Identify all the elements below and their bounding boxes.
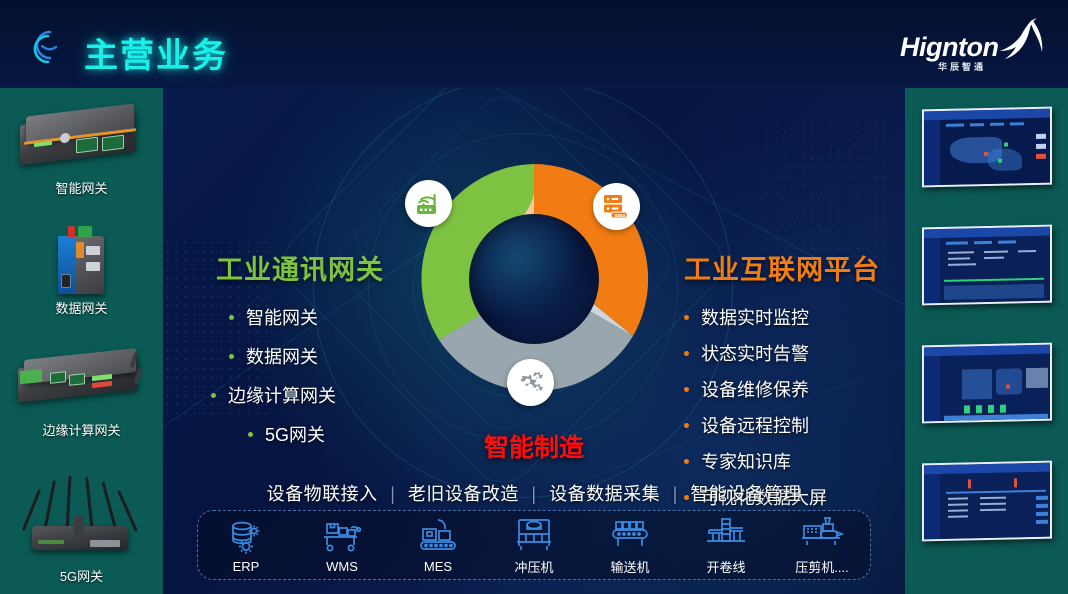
dashboard-map-screenshot — [922, 107, 1052, 188]
business-donut-chart: saas — [411, 156, 657, 402]
right-screenshot-rail — [905, 88, 1068, 594]
rail-item-5g-gateway[interactable]: 5G网关 — [0, 464, 163, 585]
sm-item-1: 老旧设备改造 — [408, 484, 519, 504]
left-bullet-label: 数据网关 — [246, 343, 318, 369]
stamping-press-icon — [491, 514, 577, 554]
smart-manufacturing-title: 智能制造 — [163, 428, 905, 464]
rail-item-label: 数据网关 — [0, 298, 163, 317]
left-bullet-1: 数据网关 — [229, 343, 318, 369]
left-bullet-2: 边缘计算网关 — [211, 382, 336, 408]
left-bullet-label: 边缘计算网关 — [228, 382, 336, 408]
bullet-dot-icon — [684, 351, 689, 356]
slide-root: 主营业务 Hignton 华辰智通 — [0, 0, 1068, 594]
right-bullet-0: 数据实时监控 — [684, 304, 809, 330]
icon-bar-label: ERP — [203, 559, 289, 574]
sm-item-0: 设备物联接入 — [267, 484, 378, 504]
database-gear-icon — [203, 516, 289, 556]
icon-bar-item-stamping-press[interactable]: 冲压机 — [491, 514, 577, 576]
bg-dot-grid-2 — [763, 118, 893, 268]
rail-screenshot-map[interactable] — [905, 108, 1068, 186]
icon-bar-item-press-shear[interactable]: 压剪机.... — [779, 514, 865, 576]
right-column-heading: 工业互联网平台 — [684, 248, 880, 287]
conveyor-belt-icon — [587, 514, 673, 554]
rail-screenshot-table[interactable] — [905, 226, 1068, 304]
left-product-rail: 智能网关 数据网关 — [0, 88, 163, 594]
smart-manufacturing-items: 设备物联接入 | 老旧设备改造 | 设备数据采集 | 智能设备管理 — [163, 480, 905, 506]
dashboard-table-screenshot — [922, 225, 1052, 306]
right-bullet-2: 设备维修保养 — [684, 376, 809, 402]
icon-bar-label: 开卷线 — [683, 557, 769, 576]
equipment-icon-bar: ERP WMS — [197, 510, 871, 580]
bullet-dot-icon — [229, 354, 234, 359]
icon-bar-item-uncoiling-line[interactable]: 开卷线 — [683, 514, 769, 576]
left-bullet-label: 智能网关 — [246, 304, 318, 330]
rail-screenshot-data-list[interactable] — [905, 462, 1068, 540]
bullet-dot-icon — [684, 423, 689, 428]
data-gateway-device-icon — [12, 222, 152, 294]
bullet-dot-icon — [684, 387, 689, 392]
left-bullet-0: 智能网关 — [229, 304, 318, 330]
dashboard-data-list-screenshot — [922, 461, 1052, 542]
brand-subtitle: 华辰智通 — [938, 60, 986, 73]
brand-logo: Hignton 华辰智通 — [900, 14, 1050, 76]
rail-item-edge-gateway[interactable]: 边缘计算网关 — [0, 344, 163, 439]
svg-text:saas: saas — [614, 213, 625, 219]
sm-separator: | — [666, 484, 685, 504]
circular-swirl-logo-icon — [28, 26, 70, 68]
sm-item-2: 设备数据采集 — [549, 484, 660, 504]
rail-item-data-gateway[interactable]: 数据网关 — [0, 222, 163, 317]
right-bullet-label: 数据实时监控 — [701, 304, 809, 330]
sm-separator: | — [524, 484, 543, 504]
bullet-dot-icon — [684, 315, 689, 320]
uncoiling-line-icon — [683, 514, 769, 554]
icon-bar-label: 冲压机 — [491, 557, 577, 576]
right-bullet-1: 状态实时告警 — [684, 340, 809, 366]
icon-bar-item-erp[interactable]: ERP — [203, 516, 289, 574]
saas-server-cloud-icon[interactable]: saas — [593, 183, 640, 230]
rail-item-label: 5G网关 — [0, 566, 163, 585]
rail-item-smart-gateway[interactable]: 智能网关 — [0, 102, 163, 197]
warehouse-cart-icon — [299, 516, 385, 556]
icon-bar-label: 压剪机.... — [779, 557, 865, 576]
header-bar: 主营业务 Hignton 华辰智通 — [0, 0, 1068, 88]
5g-gateway-router-icon — [12, 464, 152, 562]
conveyor-packaging-icon — [395, 516, 481, 556]
icon-bar-item-mes[interactable]: MES — [395, 516, 481, 574]
page-title: 主营业务 — [84, 28, 228, 77]
rail-item-label: 智能网关 — [0, 178, 163, 197]
bullet-dot-icon — [211, 393, 216, 398]
icon-bar-label: 输送机 — [587, 557, 673, 576]
smart-gateway-device-icon — [12, 102, 152, 174]
sm-separator: | — [383, 484, 402, 504]
gateway-router-icon[interactable] — [405, 180, 452, 227]
icon-bar-label: WMS — [299, 559, 385, 574]
rail-screenshot-device-monitor[interactable] — [905, 344, 1068, 422]
main-content: 工业通讯网关 智能网关 数据网关 边缘计算网关 5G网关 工业互联网平台 数据实… — [163, 88, 905, 594]
right-bullet-label: 设备维修保养 — [701, 376, 809, 402]
right-bullet-label: 状态实时告警 — [701, 340, 809, 366]
icon-bar-item-conveyor[interactable]: 输送机 — [587, 514, 673, 576]
dashboard-device-monitor-screenshot — [922, 343, 1052, 424]
rail-item-label: 边缘计算网关 — [0, 420, 163, 439]
donut-center-globe — [469, 214, 599, 344]
icon-bar-label: MES — [395, 559, 481, 574]
sm-item-3: 智能设备管理 — [690, 484, 801, 504]
icon-bar-item-wms[interactable]: WMS — [299, 516, 385, 574]
press-shear-machine-icon — [779, 514, 865, 554]
edge-computing-gateway-device-icon — [12, 344, 152, 416]
gears-icon[interactable] — [507, 359, 554, 406]
bullet-dot-icon — [229, 315, 234, 320]
brand-name: Hignton — [900, 32, 1020, 63]
left-column-heading: 工业通讯网关 — [216, 248, 384, 287]
